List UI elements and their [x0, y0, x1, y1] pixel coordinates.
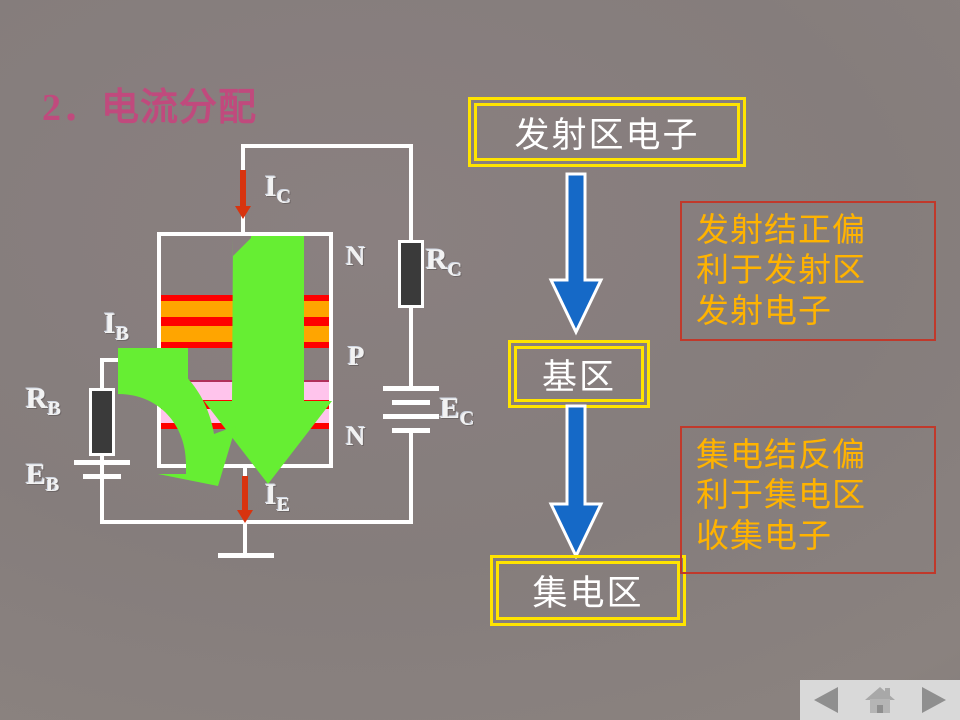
label-rb-sub: B — [48, 398, 61, 420]
label-ic: IC — [265, 170, 291, 209]
label-ie: IE — [265, 478, 290, 517]
label-eb: EB — [26, 458, 59, 497]
electron-flow-arrow — [118, 236, 348, 486]
label-ie-text: I — [265, 478, 277, 511]
note-2-line-1: 集电结反偏 — [696, 436, 922, 476]
label-ec-sub: C — [460, 408, 474, 430]
note-1-line-1: 发射结正偏 — [696, 211, 922, 251]
label-rc-text: R — [426, 243, 448, 276]
label-rb: RB — [26, 382, 61, 421]
wire-rb-top — [100, 358, 104, 388]
label-ec: EC — [440, 392, 474, 431]
flow-box-collector-region[interactable]: 集电区 — [496, 561, 680, 620]
label-ib: IB — [104, 307, 129, 346]
home-icon[interactable] — [865, 687, 895, 713]
slide-canvas: 2．电流分配 — [0, 0, 960, 720]
slide-navigation-bar — [800, 680, 960, 720]
note-1-line-2: 利于发射区 — [696, 251, 922, 291]
resistor-rb — [89, 388, 115, 456]
note-2-line-3: 收集电子 — [696, 517, 922, 557]
label-eb-text: E — [26, 458, 46, 491]
ground-symbol — [218, 553, 274, 558]
home-door — [877, 705, 883, 713]
flow-box-base-region[interactable]: 基区 — [514, 346, 644, 402]
battery-ec-plate-2 — [392, 400, 430, 405]
resistor-rc — [398, 240, 424, 308]
wire-rc-to-ec — [409, 306, 413, 386]
back-triangle-icon[interactable] — [814, 687, 838, 713]
wire-rc-top — [409, 144, 413, 240]
note-2-line-2: 利于集电区 — [696, 476, 922, 516]
label-eb-sub: B — [46, 474, 59, 496]
label-rc: RC — [426, 243, 462, 282]
label-ie-sub: E — [277, 494, 290, 516]
transistor-circuit-diagram: IC IE IB RB EB RC EC N P N — [0, 0, 470, 640]
label-ic-text: I — [265, 170, 277, 203]
label-region-n-top: N — [346, 241, 366, 272]
battery-ec-plate-1 — [383, 386, 439, 391]
wire-top-horizontal — [241, 144, 413, 148]
note-collector-junction: 集电结反偏 利于集电区 收集电子 — [680, 426, 936, 574]
wire-bottom-return — [100, 520, 413, 524]
label-region-n-bottom: N — [346, 421, 366, 452]
flow-box-emitter-electrons[interactable]: 发射区电子 — [474, 103, 740, 161]
wire-eb-down — [100, 474, 104, 522]
label-ec-text: E — [440, 392, 460, 425]
forward-triangle-icon[interactable] — [922, 687, 946, 713]
battery-ec-plate-3 — [383, 414, 439, 419]
flow-arrow-1 — [548, 172, 604, 336]
label-region-p: P — [348, 341, 365, 372]
label-ib-sub: B — [116, 323, 129, 345]
label-ic-sub: C — [277, 186, 291, 208]
label-rb-text: R — [26, 382, 48, 415]
note-emitter-junction: 发射结正偏 利于发射区 发射电子 — [680, 201, 936, 341]
note-1-line-3: 发射电子 — [696, 292, 922, 332]
flow-arrow-2 — [548, 404, 604, 560]
label-rc-sub: C — [448, 259, 462, 281]
label-ib-text: I — [104, 307, 116, 340]
wire-ec-down — [409, 428, 413, 524]
